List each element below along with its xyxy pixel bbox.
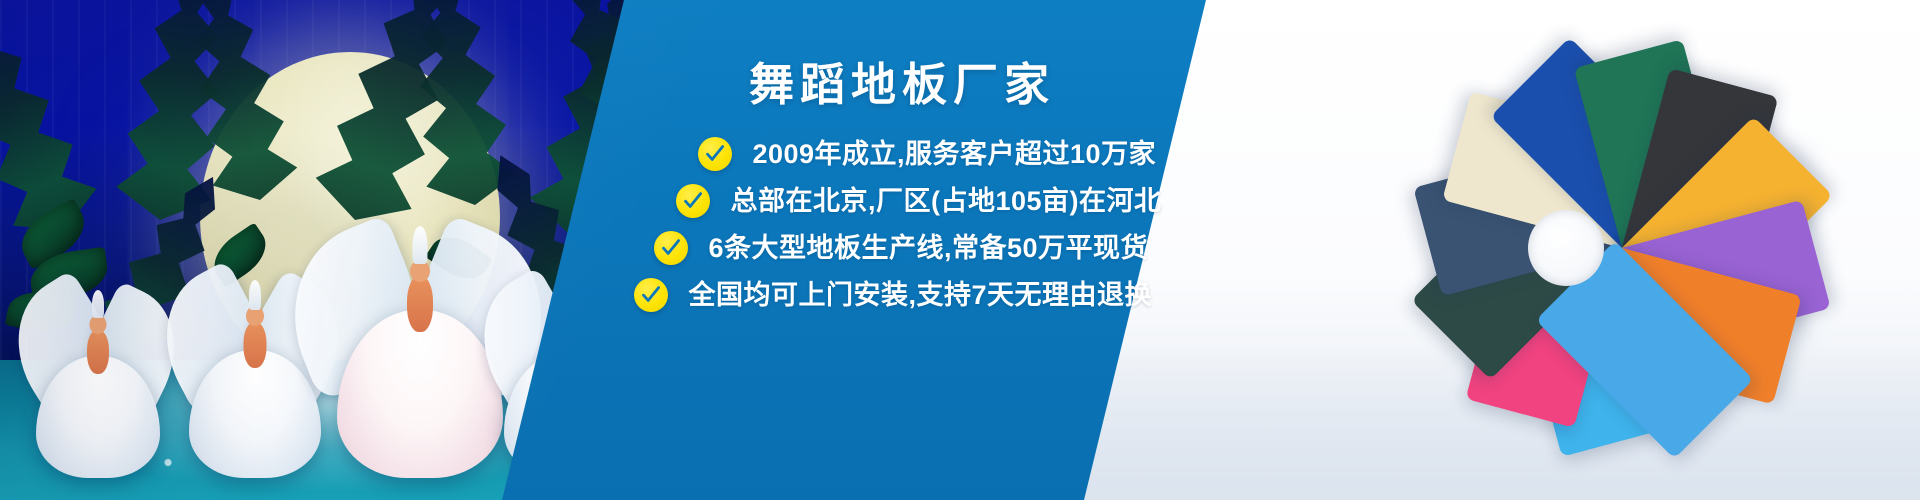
feature-list: 2009年成立,服务客户超过10万家 总部在北京,厂区(占地105亩)在河北 6… [634, 137, 1161, 312]
list-item: 全国均可上门安装,支持7天无理由退换 [634, 278, 1161, 312]
list-item-label: 全国均可上门安装,支持7天无理由退换 [688, 281, 1152, 309]
check-circle-icon [698, 137, 732, 171]
list-item-label: 总部在北京,厂区(占地105亩)在河北 [730, 187, 1161, 215]
check-circle-icon [634, 278, 668, 312]
list-item: 6条大型地板生产线,常备50万平现货 [654, 231, 1161, 265]
check-circle-icon [654, 231, 688, 265]
list-item-label: 6条大型地板生产线,常备50万平现货 [708, 234, 1148, 262]
pinwheel-center-hub [1528, 210, 1604, 286]
promo-banner: 舞蹈地板厂家 2009年成立,服务客户超过10万家 总部在北京,厂区(占地105… [0, 0, 1920, 500]
panel-content: 舞蹈地板厂家 2009年成立,服务客户超过10万家 总部在北京,厂区(占地105… [568, 0, 1228, 500]
page-title: 舞蹈地板厂家 [741, 62, 1055, 107]
list-item: 2009年成立,服务客户超过10万家 [698, 137, 1161, 171]
check-circle-icon [676, 184, 710, 218]
list-item-label: 2009年成立,服务客户超过10万家 [752, 140, 1156, 168]
list-item: 总部在北京,厂区(占地105亩)在河北 [676, 184, 1161, 218]
